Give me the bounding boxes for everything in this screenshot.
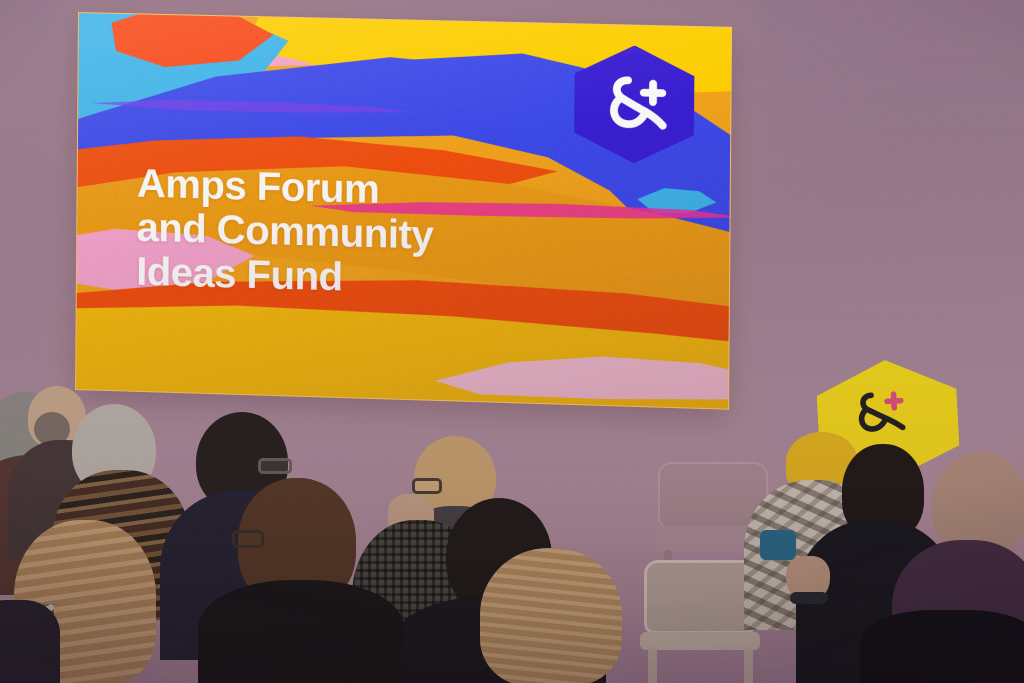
chair-leg [744, 648, 753, 683]
presentation-room-photo: Amps Forum and Community Ideas Fund [0, 0, 1024, 683]
torso [860, 610, 1024, 683]
torso [0, 600, 60, 683]
drink-cup [760, 530, 796, 560]
wristwatch [790, 592, 828, 604]
eyeglasses [232, 530, 264, 548]
chair-leg [648, 648, 657, 683]
ampersand-plus-icon-yellow-sign [844, 380, 920, 446]
hair [480, 548, 622, 683]
empty-chair-stacking [640, 560, 760, 683]
eyeglasses [258, 458, 292, 474]
projected-slide: Amps Forum and Community Ideas Fund [75, 12, 732, 410]
ampersand-plus-icon [598, 68, 670, 140]
slide-canvas: Amps Forum and Community Ideas Fund [75, 12, 732, 410]
chair-seat [640, 632, 760, 650]
eyeglasses [412, 478, 442, 494]
slide-title: Amps Forum and Community Ideas Fund [136, 161, 619, 307]
chair-back [644, 560, 756, 634]
torso [198, 580, 404, 683]
